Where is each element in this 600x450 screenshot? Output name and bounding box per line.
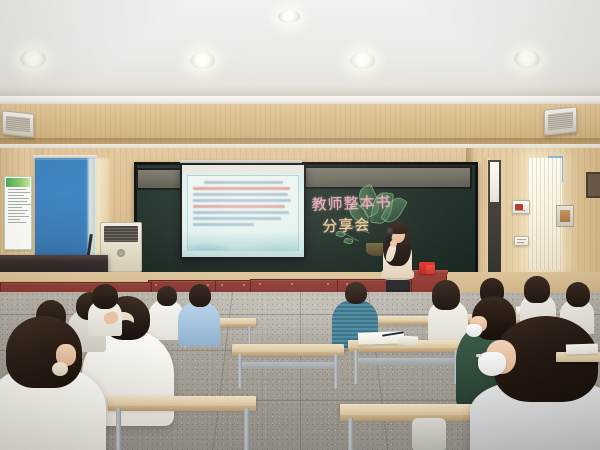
downlight-4 bbox=[514, 50, 540, 68]
presenter-hand bbox=[390, 240, 397, 247]
downlight-3 bbox=[350, 52, 375, 69]
slide-text-line bbox=[204, 181, 283, 184]
poster-text-line bbox=[8, 204, 31, 205]
poster-text-line bbox=[8, 219, 20, 220]
poster-text-line bbox=[8, 207, 22, 208]
wall-speaker-right bbox=[544, 106, 577, 135]
under-desk-bag bbox=[412, 418, 446, 450]
attendee-7-head bbox=[189, 284, 211, 307]
poster-text-line bbox=[8, 192, 30, 193]
attendee-6-head bbox=[157, 286, 177, 306]
attendee-5-head bbox=[92, 284, 118, 309]
desk-leg bbox=[116, 408, 121, 450]
attendee-13-mask-strap bbox=[476, 354, 482, 357]
wall-sign-small bbox=[514, 236, 529, 246]
air-conditioner-grill bbox=[104, 226, 138, 242]
air-conditioner-knob-icon[interactable] bbox=[117, 249, 125, 257]
sign-text-line bbox=[515, 210, 525, 211]
desk-shelf bbox=[240, 362, 336, 369]
poster-text-line bbox=[8, 222, 26, 223]
poster-text-line bbox=[8, 210, 28, 211]
wall-sign-no-smoking bbox=[512, 200, 530, 214]
downlight-5 bbox=[278, 10, 300, 23]
desk-leg bbox=[244, 408, 249, 450]
floor-grout-line bbox=[300, 292, 301, 450]
poster-text-line bbox=[8, 216, 29, 217]
attendee-1-hair-clip bbox=[52, 362, 68, 376]
classroom-photo-scene: 教师整本书 分享会 bbox=[0, 0, 600, 450]
poster-text-line bbox=[8, 213, 25, 214]
attendee-7-body bbox=[178, 302, 220, 346]
switch-inner-face[interactable] bbox=[560, 210, 570, 222]
desk-edge bbox=[232, 352, 344, 356]
light-switch-plate[interactable] bbox=[556, 205, 574, 227]
poster-header-band bbox=[6, 178, 30, 187]
downlight-1 bbox=[20, 50, 46, 68]
poster-text-line bbox=[8, 189, 26, 190]
speaker-grill-left bbox=[6, 116, 30, 133]
wall-notice-poster bbox=[4, 176, 32, 250]
attendee-8-head bbox=[345, 282, 367, 304]
window-roller-blind[interactable] bbox=[35, 158, 95, 262]
desk-papers bbox=[566, 343, 598, 354]
desk-notebook bbox=[398, 335, 418, 345]
desk-leg bbox=[238, 354, 242, 388]
projection-screen bbox=[180, 163, 306, 259]
attendee-9-head bbox=[432, 280, 460, 310]
attendee-13-face-mask bbox=[478, 352, 506, 376]
no-smoking-icon bbox=[515, 204, 523, 210]
slide-text-line bbox=[193, 211, 289, 214]
slide-text-line-highlight bbox=[193, 187, 290, 190]
slide-text-line bbox=[193, 199, 291, 202]
blackboard-slide-panel-right[interactable] bbox=[300, 166, 472, 189]
poster-text-line bbox=[8, 195, 24, 196]
attendee-12-face-mask bbox=[466, 324, 482, 337]
sign-text-line bbox=[517, 242, 524, 243]
desk-leg bbox=[354, 350, 358, 384]
attendee-11-head bbox=[524, 276, 550, 303]
red-handbag-detail bbox=[426, 265, 435, 274]
poster-text-line bbox=[8, 201, 27, 202]
wall-speaker-left bbox=[2, 110, 34, 137]
screen-surface bbox=[182, 165, 304, 257]
desk-leg bbox=[334, 354, 338, 388]
chalk-title-line-1: 教师整本书 bbox=[311, 193, 392, 214]
desk-leg bbox=[348, 418, 353, 450]
framed-picture bbox=[586, 172, 600, 198]
attendee-14-head bbox=[566, 282, 590, 307]
slide-watercolor-decoration bbox=[188, 232, 298, 250]
slide-text-line-highlight bbox=[193, 205, 285, 208]
microphone-head-icon bbox=[386, 227, 393, 234]
slide-text-line bbox=[193, 223, 254, 226]
speaker-grill-right bbox=[548, 112, 573, 131]
sign-text-line bbox=[517, 239, 526, 240]
desk-shelf bbox=[356, 358, 456, 365]
poster-text-line bbox=[8, 198, 29, 199]
desk-edge bbox=[348, 348, 464, 352]
slide-text-line bbox=[193, 217, 281, 220]
doorway-daylight bbox=[490, 162, 499, 202]
piano-lid bbox=[0, 255, 108, 263]
downlight-2 bbox=[190, 52, 215, 69]
slide-content-frame bbox=[187, 175, 299, 251]
slide-text-line bbox=[193, 193, 288, 196]
desk-edge bbox=[108, 406, 256, 411]
